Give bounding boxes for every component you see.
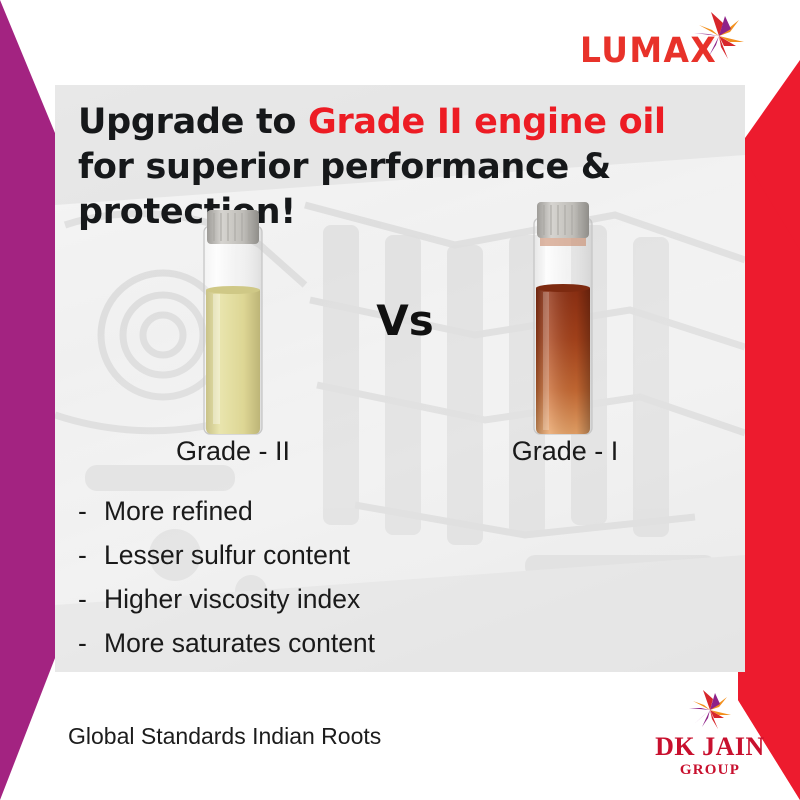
dk-jain-subtitle: GROUP [640, 762, 780, 779]
bullet-text: More refined [104, 496, 638, 527]
page-title: Upgrade to Grade II engine oil for super… [78, 100, 738, 234]
caption-grade-2: Grade - II [118, 436, 348, 467]
dk-jain-flower-icon [684, 688, 736, 732]
lumax-logo: LUMAX [580, 8, 760, 80]
bullet-marker: - [78, 628, 104, 659]
caption-grade-1: Grade - I [450, 436, 680, 467]
bullet-text: Lesser sulfur content [104, 540, 638, 571]
tagline: Global Standards Indian Roots [68, 723, 381, 750]
headline-line1-prefix: Upgrade to [78, 102, 308, 142]
benefits-list: - More refined - Lesser sulfur content -… [78, 496, 638, 672]
dk-jain-name: DK JAIN [640, 733, 780, 760]
versus-label: Vs [360, 296, 450, 345]
dk-jain-group-logo: DK JAIN GROUP [640, 688, 780, 788]
list-item: - Higher viscosity index [78, 584, 638, 615]
list-item: - More refined [78, 496, 638, 527]
headline-line1-highlight: Grade II engine oil [308, 102, 666, 142]
vial-grade-1 [526, 200, 600, 438]
list-item: - Lesser sulfur content [78, 540, 638, 571]
bullet-marker: - [78, 540, 104, 571]
vial-grade-2 [196, 208, 270, 438]
bullet-text: Higher viscosity index [104, 584, 638, 615]
list-item: - More saturates content [78, 628, 638, 659]
bullet-text: More saturates content [104, 628, 638, 659]
bullet-marker: - [78, 496, 104, 527]
headline-line2: for superior performance & protection! [78, 145, 738, 235]
poster-canvas: LUMAX Upgrade to Grade II engine o [0, 0, 800, 800]
bullet-marker: - [78, 584, 104, 615]
lumax-flower-icon [688, 10, 750, 62]
